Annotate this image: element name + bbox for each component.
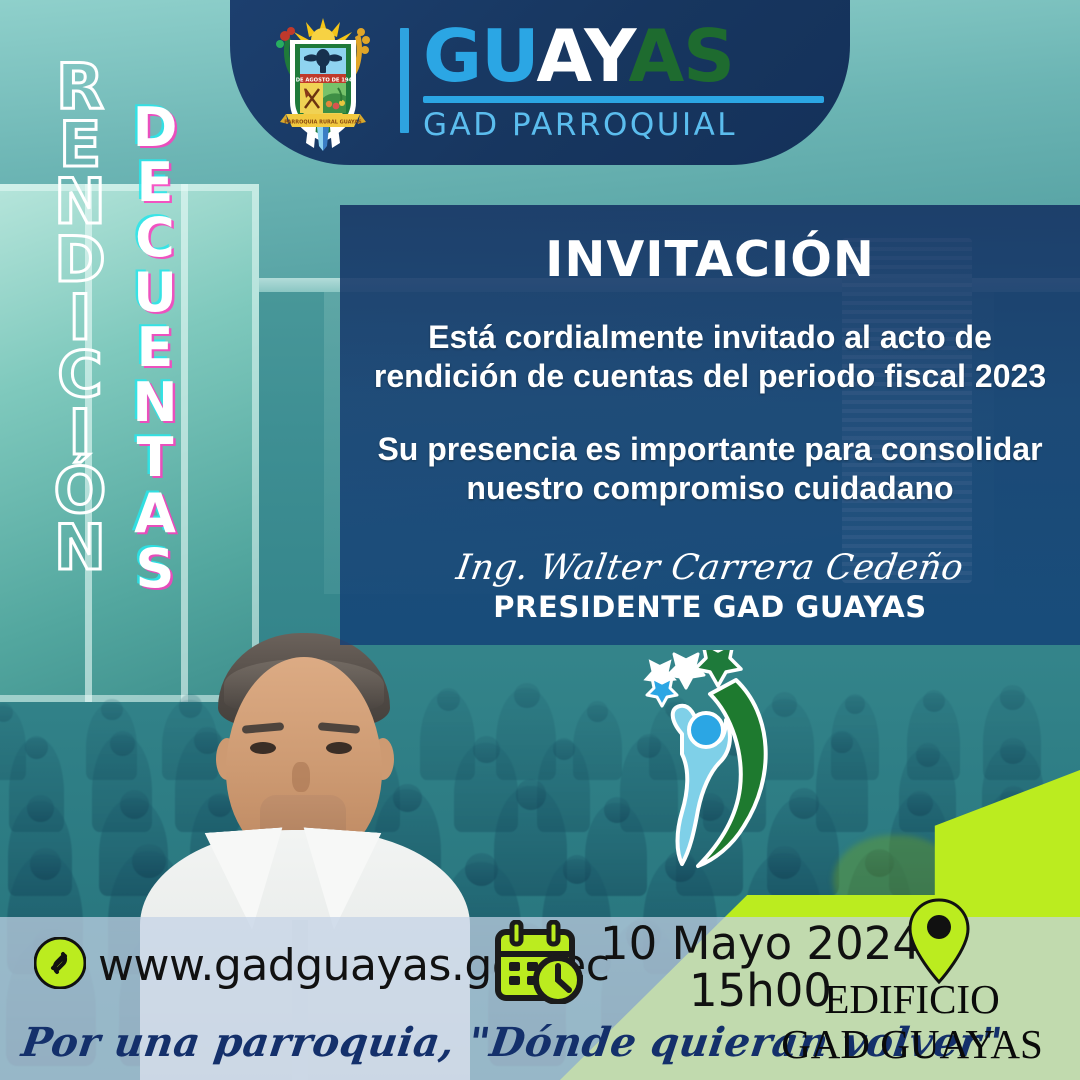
vtitle2-letter-6: T bbox=[137, 430, 174, 485]
guayas-logo: GUAYAS GAD PARROQUIAL bbox=[400, 18, 824, 142]
gad-guayas-figure-logo-icon bbox=[640, 650, 800, 880]
vtitle2-letter-4: E bbox=[137, 320, 174, 375]
vtitle2-letter-3: U bbox=[133, 265, 177, 320]
svg-text:7 DE AGOSTO DE 1946: 7 DE AGOSTO DE 1946 bbox=[290, 77, 356, 83]
wordmark-part-3: AS bbox=[628, 14, 734, 98]
vtitle1-letter-8: N bbox=[54, 519, 106, 577]
audience-head bbox=[907, 791, 933, 817]
vtitle1-letter-6: I bbox=[68, 404, 91, 462]
portrait-eye-left bbox=[250, 742, 276, 754]
audience-head bbox=[1000, 685, 1024, 709]
audience-head bbox=[25, 736, 48, 759]
audience-head bbox=[604, 797, 630, 823]
signature-role: PRESIDENTE GAD GUAYAS bbox=[366, 590, 1054, 624]
vertical-title-rendicion: RENDICIÓN bbox=[40, 58, 120, 577]
audience-head bbox=[27, 795, 54, 822]
logo-underline bbox=[423, 96, 824, 103]
link-icon bbox=[34, 937, 86, 994]
audience-head bbox=[553, 738, 575, 760]
audience-head bbox=[587, 701, 608, 722]
audience-head bbox=[514, 683, 539, 708]
invitation-panel: INVITACIÓN Está cordialmente invitado al… bbox=[340, 205, 1080, 645]
poster-canvas: 7 DE AGOSTO DE 1946 PARROQUIA RURAL GUAY… bbox=[0, 0, 1080, 1080]
vtitle2-letter-5: N bbox=[132, 375, 177, 430]
calendar-clock-icon bbox=[492, 920, 586, 1009]
svg-text:PARROQUIA RURAL GUAYAS: PARROQUIA RURAL GUAYAS bbox=[284, 119, 362, 125]
audience-head bbox=[101, 699, 122, 720]
portrait-eye-right bbox=[326, 742, 352, 754]
location-line-2: GAD GUAYAS bbox=[762, 1022, 1062, 1066]
event-date: 10 Mayo 2024 bbox=[600, 917, 921, 970]
panel-heading: INVITACIÓN bbox=[366, 231, 1054, 288]
logo-subtitle: GAD PARROQUIAL bbox=[423, 107, 824, 143]
panel-paragraph-2: Su presencia es importante para consolid… bbox=[366, 430, 1054, 508]
portrait-nose bbox=[292, 762, 310, 792]
audience-head bbox=[916, 743, 940, 767]
location-text: EDIFICIO GAD GUAYAS bbox=[762, 977, 1062, 1066]
panel-paragraph-1: Está cordialmente invitado al acto de re… bbox=[366, 318, 1054, 396]
logo-divider-bar bbox=[400, 28, 409, 132]
vtitle2-letter-1: E bbox=[137, 155, 174, 210]
slogan-text: Por una parroquia, "Dónde quieran volver… bbox=[19, 1019, 806, 1066]
location-line-1: EDIFICIO bbox=[762, 977, 1062, 1021]
vtitle1-letter-3: D bbox=[54, 231, 105, 289]
audience-head bbox=[120, 790, 149, 819]
signature-name: Ing. Walter Carrera Cedeño bbox=[363, 548, 1057, 588]
vtitle1-letter-0: R bbox=[56, 58, 104, 116]
vtitle2-letter-0: D bbox=[133, 100, 178, 155]
wordmark-part-1: GU bbox=[423, 14, 536, 98]
header-banner: 7 DE AGOSTO DE 1946 PARROQUIA RURAL GUAY… bbox=[230, 0, 850, 165]
coat-of-arms-icon: 7 DE AGOSTO DE 1946 PARROQUIA RURAL GUAY… bbox=[264, 10, 382, 152]
vtitle2-letter-2: C bbox=[135, 210, 175, 265]
audience-head bbox=[473, 736, 500, 763]
wordmark-part-2: AY bbox=[536, 14, 628, 98]
audience-head bbox=[923, 690, 945, 712]
map-pin-icon bbox=[906, 898, 972, 984]
guayas-wordmark: GUAYAS bbox=[423, 22, 824, 90]
